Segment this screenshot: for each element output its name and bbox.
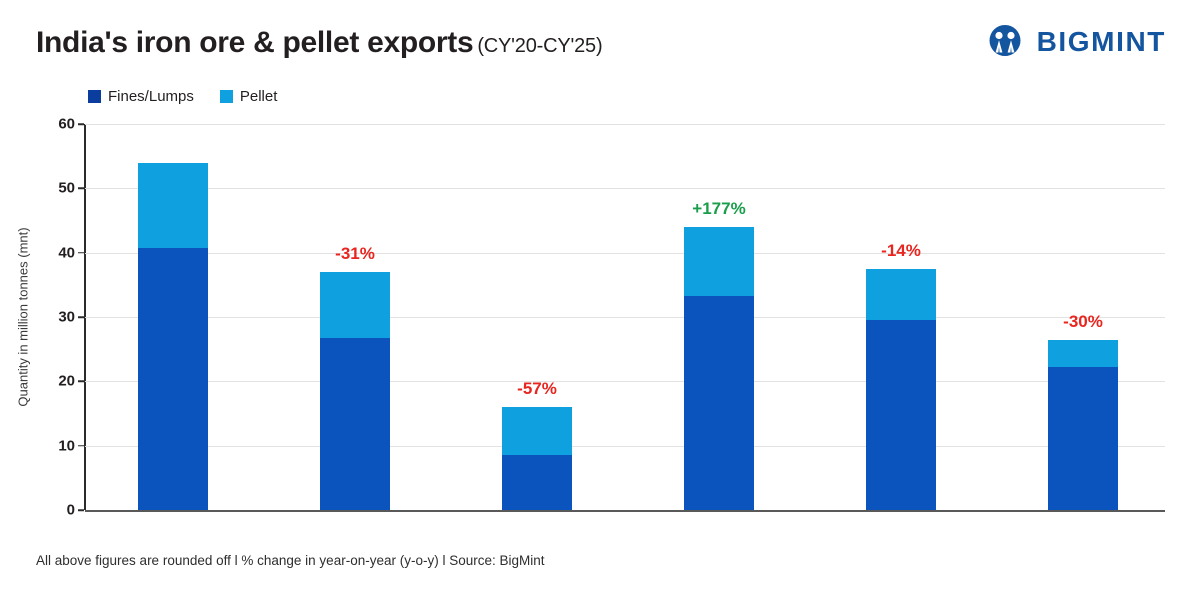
- plot-area: 0102030405060CY'20-31%CY'21-57%CY'22+177…: [85, 124, 1165, 510]
- bar-segment-pellet[interactable]: [1048, 340, 1118, 366]
- x-axis-line: [85, 510, 1165, 512]
- bigmint-logo: BIGMINT: [985, 22, 1166, 62]
- yoy-change-label: -14%: [881, 241, 921, 261]
- bar-segment-fines-lumps[interactable]: [866, 320, 936, 510]
- bar-segment-pellet[interactable]: [866, 269, 936, 320]
- y-axis-tick-mark: [78, 252, 84, 254]
- y-axis-tick-mark: [78, 188, 84, 190]
- legend-item-1[interactable]: Pellet: [220, 88, 278, 105]
- legend-item-label: Fines/Lumps: [108, 88, 194, 105]
- gridline: [85, 381, 1165, 382]
- y-axis-tick-label: 30: [15, 309, 75, 326]
- chart-legend: Fines/LumpsPellet: [88, 88, 277, 105]
- gridline: [85, 446, 1165, 447]
- bigmint-circle-figures-icon: [985, 22, 1025, 62]
- legend-swatch-icon: [220, 90, 233, 103]
- bar-segment-fines-lumps[interactable]: [138, 248, 208, 510]
- header: India's iron ore & pellet exports(CY'20-…: [0, 0, 1200, 80]
- yoy-change-label: -30%: [1063, 312, 1103, 332]
- gridline: [85, 124, 1165, 125]
- bar-segment-fines-lumps[interactable]: [684, 296, 754, 510]
- title-subtitle: (CY'20-CY'25): [477, 35, 602, 57]
- y-axis-tick-mark: [78, 381, 84, 383]
- yoy-change-label: +177%: [692, 199, 745, 219]
- y-axis-tick-label: 0: [15, 502, 75, 519]
- bar-segment-fines-lumps[interactable]: [502, 455, 572, 510]
- legend-item-0[interactable]: Fines/Lumps: [88, 88, 194, 105]
- bar-segment-fines-lumps[interactable]: [320, 338, 390, 510]
- gridline: [85, 253, 1165, 254]
- y-axis-tick-mark: [78, 509, 84, 511]
- y-axis-tick-mark: [78, 123, 84, 125]
- y-axis-tick-mark: [78, 316, 84, 318]
- logo-wordmark: BIGMINT: [1037, 26, 1166, 58]
- gridline: [85, 188, 1165, 189]
- chart-page: India's iron ore & pellet exports(CY'20-…: [0, 0, 1200, 600]
- legend-swatch-icon: [88, 90, 101, 103]
- bar-segment-pellet[interactable]: [502, 407, 572, 455]
- bar-segment-fines-lumps[interactable]: [1048, 367, 1118, 510]
- y-axis-tick-label: 20: [15, 373, 75, 390]
- bar-segment-pellet[interactable]: [684, 227, 754, 296]
- footer-note: All above figures are rounded off l % ch…: [36, 553, 545, 568]
- gridline: [85, 317, 1165, 318]
- y-axis-tick-label: 60: [15, 116, 75, 133]
- y-axis-tick-label: 40: [15, 244, 75, 261]
- y-axis-tick-label: 50: [15, 180, 75, 197]
- chart-container: Quantity in million tonnes (mnt) 0102030…: [85, 124, 1165, 510]
- title-main: India's iron ore & pellet exports: [36, 26, 473, 59]
- bar-segment-pellet[interactable]: [138, 163, 208, 249]
- yoy-change-label: -57%: [517, 379, 557, 399]
- yoy-change-label: -31%: [335, 244, 375, 264]
- y-axis-tick-mark: [78, 445, 84, 447]
- page-title: India's iron ore & pellet exports(CY'20-…: [36, 26, 602, 60]
- y-axis-tick-label: 10: [15, 437, 75, 454]
- legend-item-label: Pellet: [240, 88, 278, 105]
- bar-segment-pellet[interactable]: [320, 272, 390, 338]
